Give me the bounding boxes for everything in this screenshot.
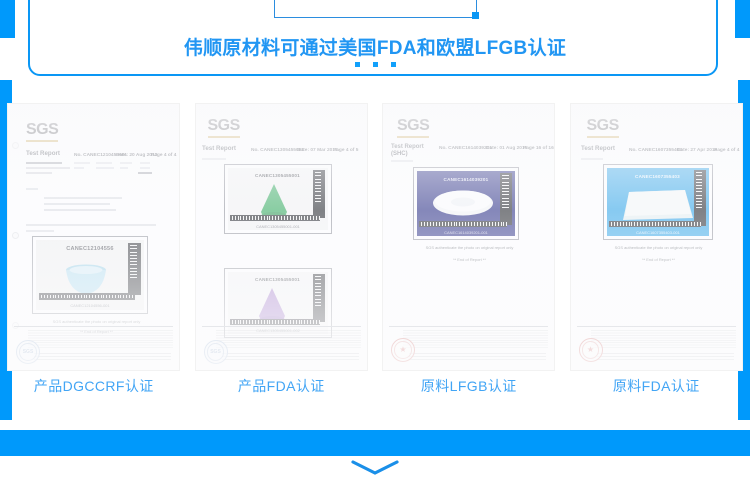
certificate-grid: SGS Test Report No. CANEC1210455601 Date… bbox=[0, 104, 750, 404]
sample-photo-subcaption: CANEC12104556-001 bbox=[36, 304, 144, 308]
table-cell bbox=[96, 162, 112, 164]
ruler-vertical-icon bbox=[313, 274, 325, 322]
certificate-scan-lfgb: SGS Test Report (SHC) No. CANEC161403920… bbox=[383, 104, 554, 370]
table-cell-pass bbox=[138, 172, 152, 174]
caption-cell-fda-product: 产品FDA认证 bbox=[188, 376, 376, 396]
certificate-scan-fda-product: SGS Test Report No. CANEC1305455001 Date… bbox=[196, 104, 367, 370]
table-cell bbox=[140, 162, 150, 164]
caption-cell-dgccrf: 产品DGCCRF认证 bbox=[0, 376, 188, 396]
sgs-logo: SGS bbox=[26, 122, 58, 142]
ruler-horizontal-icon bbox=[230, 215, 320, 221]
doc-subtitle: (SHC) bbox=[391, 151, 408, 158]
end-of-report-note: ** End of Report ** bbox=[390, 258, 550, 262]
certificate-card-dgccrf[interactable]: SGS Test Report No. CANEC1210455601 Date… bbox=[0, 104, 188, 404]
doc-date: Date: 01 Aug 2016 bbox=[486, 145, 527, 151]
table-row bbox=[26, 167, 70, 169]
footer-divider bbox=[14, 326, 173, 327]
authentication-note: SGS authenticate the photo on original r… bbox=[579, 246, 736, 250]
doc-title: Test Report bbox=[202, 146, 236, 153]
doc-title: Test Report bbox=[581, 146, 615, 153]
sample-photo: CANEC1607355403 CANEC1607355403-001 bbox=[607, 168, 709, 236]
footer-contact-lines bbox=[222, 351, 359, 360]
end-of-report-note: ** End of Report ** bbox=[579, 258, 736, 262]
certificate-scan-dgccrf: SGS Test Report No. CANEC1210455601 Date… bbox=[8, 104, 179, 370]
ruler-vertical-icon bbox=[128, 243, 141, 295]
caption-cell-fda-material: 原料FDA认证 bbox=[563, 376, 750, 396]
sample-photo-subcaption: CANEC1305455001-001 bbox=[228, 225, 328, 229]
certificate-caption: 原料LFGB认证 bbox=[421, 378, 517, 394]
table-cell bbox=[120, 167, 128, 169]
caption-cell-lfgb-material: 原料LFGB认证 bbox=[375, 376, 563, 396]
ruler-vertical-icon bbox=[313, 170, 325, 218]
sample-photo: CANEC1614039201 CANEC1614039201-001 bbox=[417, 171, 515, 236]
sample-photo: CANEC1305455001 CANEC1305455001-001 bbox=[228, 168, 328, 230]
sgs-stamp-icon: SGS bbox=[16, 340, 40, 364]
footer-fineprint bbox=[216, 330, 361, 348]
certificate-card-fda-product[interactable]: SGS Test Report No. CANEC1305455001 Date… bbox=[188, 104, 376, 404]
footer-divider bbox=[389, 326, 548, 327]
doc-number: No. CANEC1614039201 bbox=[439, 145, 492, 151]
doc-number: No. CANEC1607355403 bbox=[629, 147, 682, 153]
remark-line bbox=[26, 224, 156, 226]
certificate-footer: SGS bbox=[196, 324, 367, 370]
table-row bbox=[26, 172, 52, 174]
doc-date: Date: 07 Mar 2013 bbox=[297, 147, 338, 153]
sample-photo-label bbox=[581, 158, 603, 160]
sample-photo-label bbox=[202, 158, 226, 160]
section-title-box: 权威认证资质 bbox=[274, 0, 477, 18]
certificate-footer: SGS bbox=[8, 324, 179, 370]
ruler-horizontal-icon bbox=[609, 221, 701, 227]
footer-contact-lines bbox=[597, 351, 734, 360]
footer-contact-lines bbox=[409, 351, 546, 360]
page-title: 权威认证资质 bbox=[297, 0, 453, 5]
scroll-down-indicator[interactable] bbox=[0, 460, 750, 476]
doc-date: Date: 27 Apr 2016 bbox=[677, 147, 717, 153]
certificate-caption: 原料FDA认证 bbox=[613, 378, 700, 394]
certificate-footer: ★ bbox=[571, 324, 742, 370]
dot-1 bbox=[355, 62, 360, 67]
sample-photo: CANEC12104556 CANEC1210455 bbox=[36, 240, 144, 310]
sample-photo-plate-green: CANEC1305455001 CANEC1305455001-001 bbox=[224, 164, 332, 234]
certificate-caption: 产品DGCCRF认证 bbox=[34, 378, 154, 394]
certificate-caption: 产品FDA认证 bbox=[238, 378, 325, 394]
sample-photo-subcaption: CANEC1607355403-001 bbox=[607, 231, 709, 235]
table-cell bbox=[74, 162, 90, 164]
header-band: 权威认证资质 伟顺原材料可通过美国FDA和欧盟LFGB认证 bbox=[0, 0, 750, 80]
certificate-scan-fda-material: SGS Test Report No. CANEC1607355403 Date… bbox=[571, 104, 742, 370]
dot-3 bbox=[391, 62, 396, 67]
authentication-note: SGS authenticate the photo on original r… bbox=[390, 246, 550, 250]
table-cell bbox=[74, 167, 84, 169]
ruler-vertical-icon bbox=[500, 173, 512, 225]
sgs-logo: SGS bbox=[587, 118, 619, 138]
sgs-logo: SGS bbox=[397, 118, 429, 138]
note-line bbox=[44, 203, 110, 205]
official-red-seal-icon: ★ bbox=[391, 338, 415, 362]
punch-hole-icon bbox=[12, 232, 19, 239]
note-line bbox=[44, 209, 116, 211]
decorative-dots bbox=[0, 62, 750, 67]
sample-photo-plate: CANEC12104556 CANEC1210455 bbox=[32, 236, 148, 314]
sample-photo-plate: CANEC1614039201 CANEC1614039201-001 bbox=[413, 167, 519, 240]
doc-title: Test Report bbox=[391, 144, 424, 151]
footer-contact-lines bbox=[34, 351, 171, 360]
official-red-seal-icon: ★ bbox=[579, 338, 603, 362]
table-cell bbox=[96, 167, 114, 169]
certificate-card-fda-material[interactable]: SGS Test Report No. CANEC1607355403 Date… bbox=[563, 104, 750, 404]
doc-number: No. CANEC1305455001 bbox=[251, 147, 304, 153]
certificate-captions: 产品DGCCRF认证 产品FDA认证 原料LFGB认证 原料FDA认证 bbox=[0, 376, 750, 396]
footer-fineprint bbox=[591, 330, 736, 348]
punch-hole-icon bbox=[12, 142, 19, 149]
doc-page: Page 16 of 16 bbox=[523, 145, 554, 151]
ruler-horizontal-icon bbox=[39, 293, 135, 300]
table-cell bbox=[140, 167, 150, 169]
sample-photo-label bbox=[391, 160, 413, 162]
table-header-rule bbox=[26, 162, 62, 164]
doc-title: Test Report bbox=[26, 151, 60, 158]
certificate-footer: ★ bbox=[383, 324, 554, 370]
footer-fineprint bbox=[28, 330, 173, 348]
sgs-logo: SGS bbox=[208, 118, 240, 138]
notes-heading bbox=[26, 188, 38, 190]
certificate-card-lfgb-material[interactable]: SGS Test Report (SHC) No. CANEC161403920… bbox=[375, 104, 563, 404]
note-line bbox=[44, 197, 122, 199]
sgs-stamp-icon: SGS bbox=[204, 340, 228, 364]
doc-page: Page 4 of 5 bbox=[333, 147, 358, 153]
dot-2 bbox=[373, 62, 378, 67]
bottom-blue-bar bbox=[0, 430, 750, 456]
ruler-vertical-icon bbox=[694, 170, 706, 226]
footer-fineprint bbox=[403, 330, 548, 348]
title-corner-accent bbox=[472, 12, 479, 19]
section-subtitle: 伟顺原材料可通过美国FDA和欧盟LFGB认证 bbox=[0, 33, 750, 60]
footer-divider bbox=[577, 326, 736, 327]
sample-photo-plate: CANEC1607355403 CANEC1607355403-001 bbox=[603, 164, 713, 240]
table-cell bbox=[120, 162, 132, 164]
chevron-down-icon[interactable] bbox=[347, 460, 403, 476]
sample-photo-label bbox=[26, 230, 54, 232]
sample-photo-subcaption: CANEC1614039201-001 bbox=[417, 231, 515, 235]
doc-page: Page 4 of 4 bbox=[151, 152, 176, 158]
footer-divider bbox=[202, 326, 361, 327]
doc-page: Page 4 of 4 bbox=[714, 147, 739, 153]
ruler-horizontal-icon bbox=[419, 221, 507, 227]
